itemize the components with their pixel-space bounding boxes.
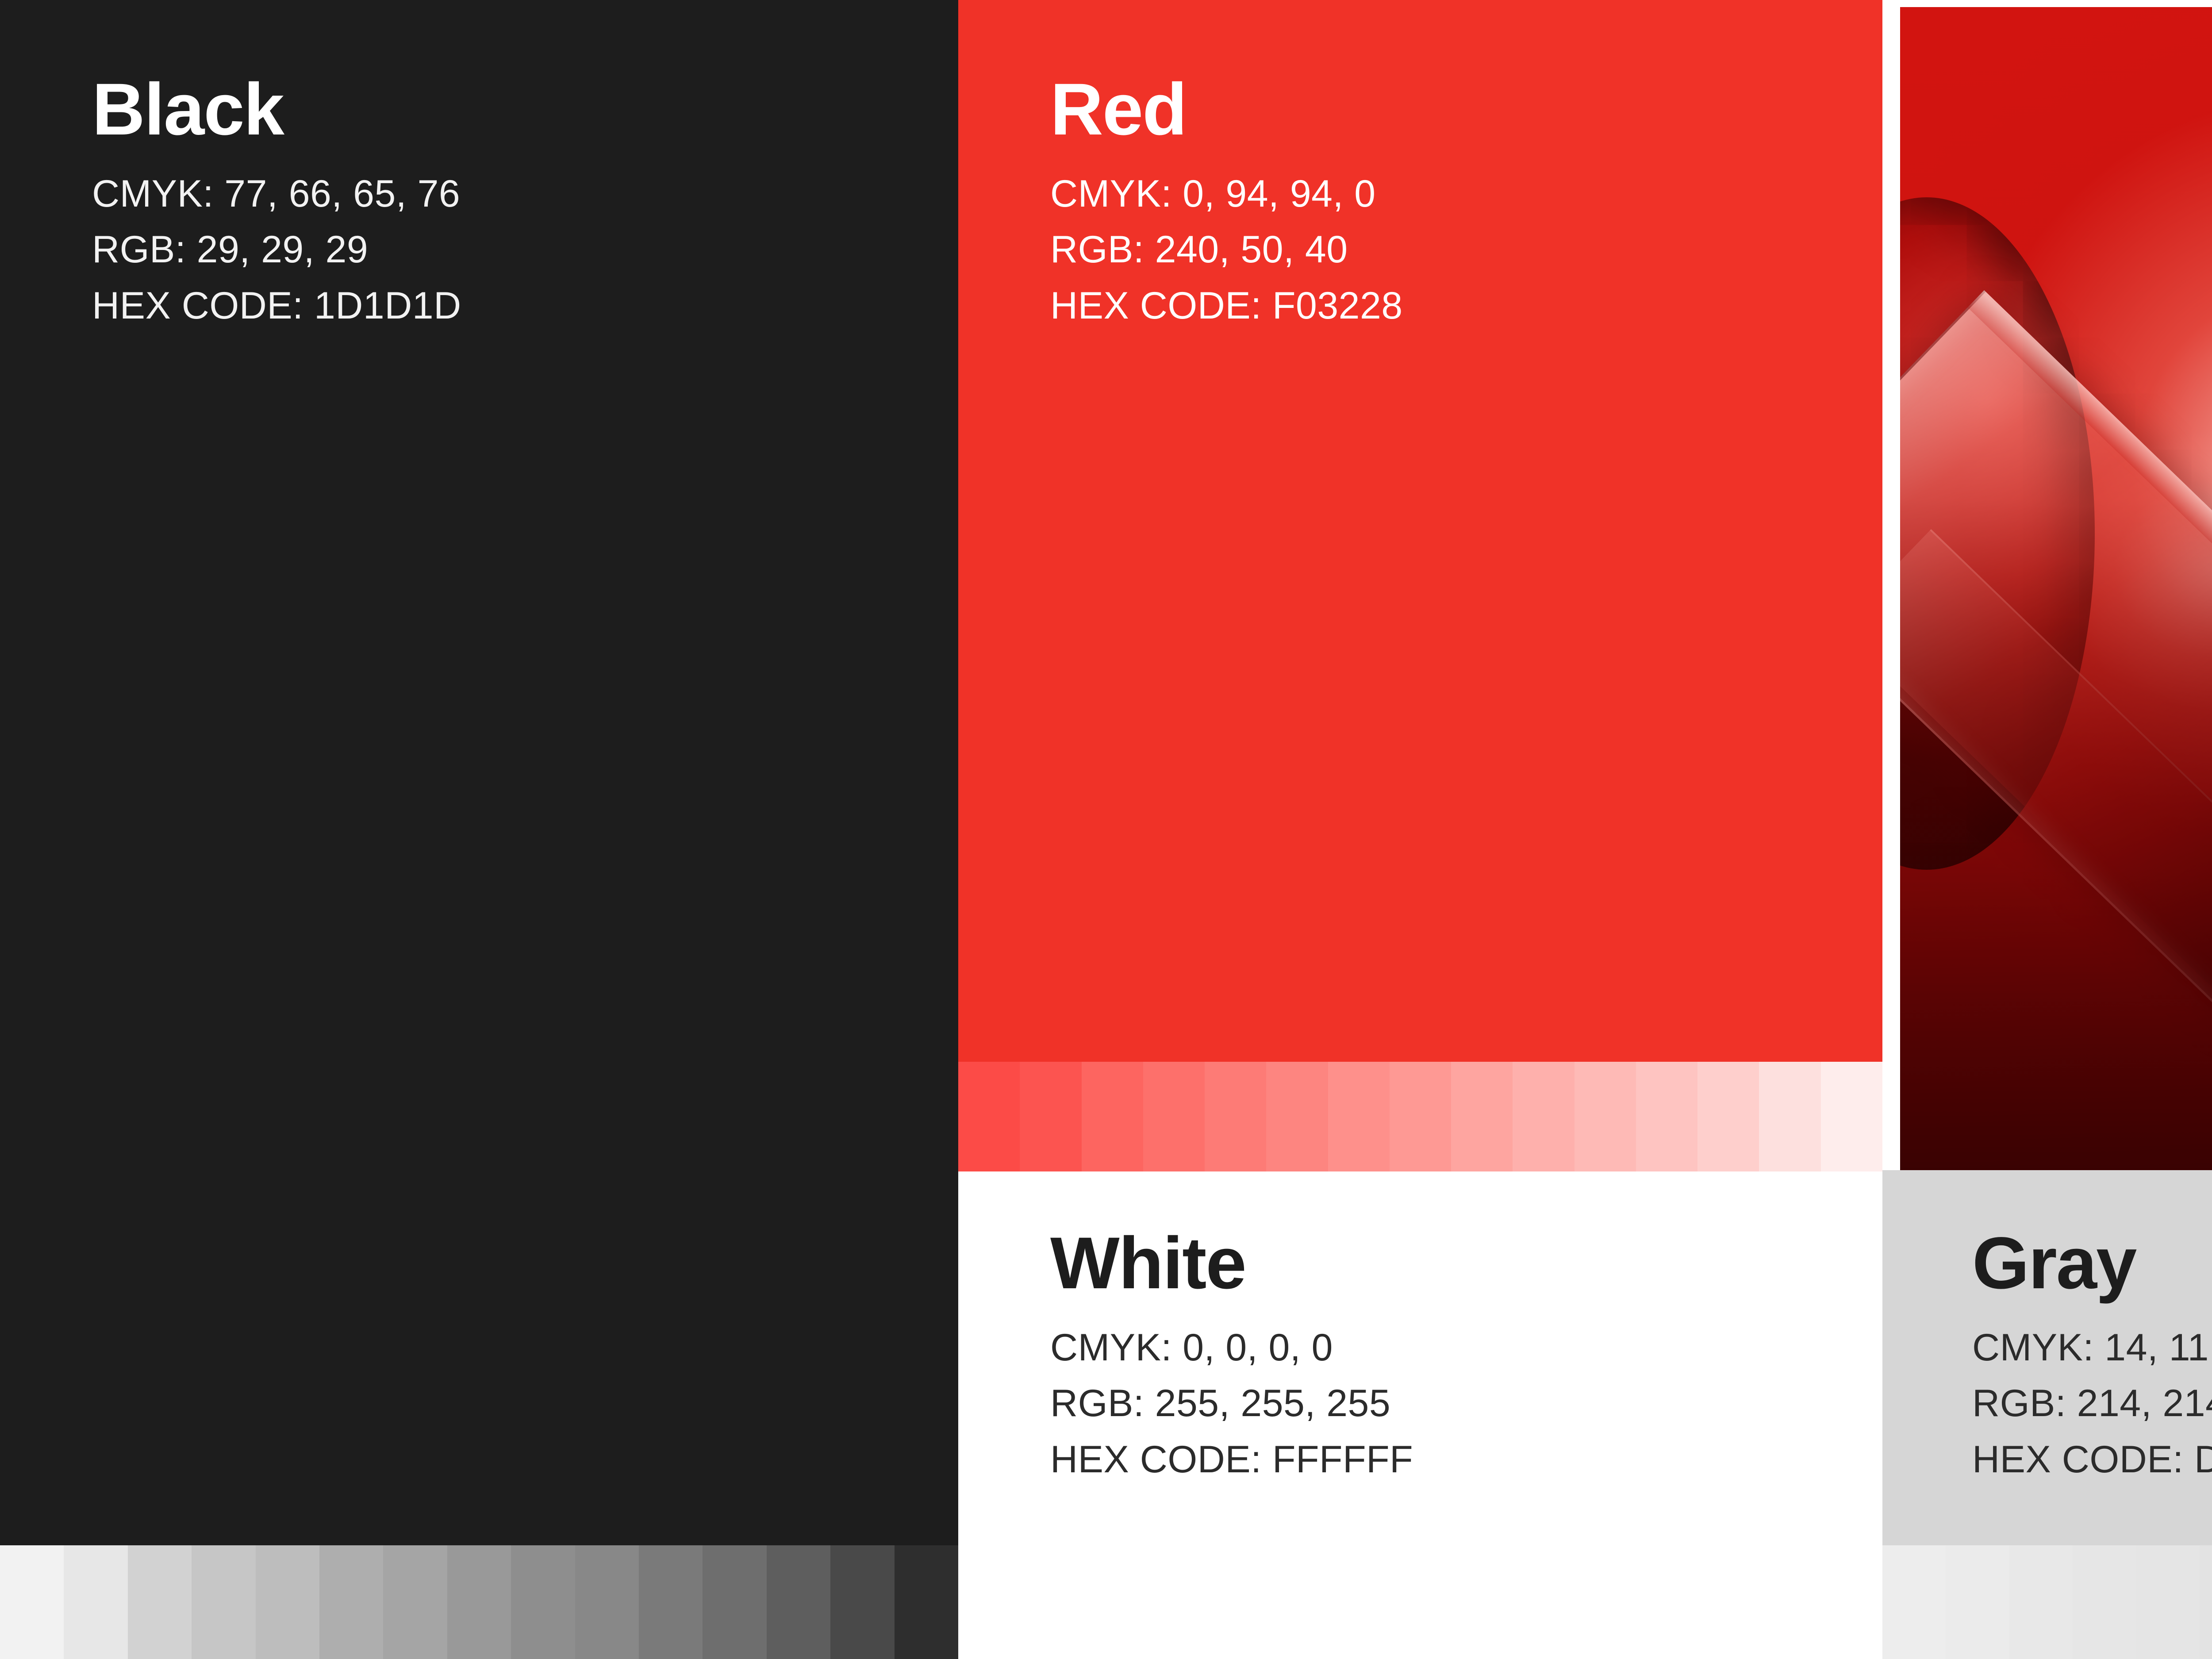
tint-swatch-red-8 xyxy=(1451,1062,1513,1171)
tint-swatch-black-9 xyxy=(575,1545,639,1659)
swatch-title-black: Black xyxy=(92,73,461,146)
swatch-hex-black: HEX CODE: 1D1D1D xyxy=(92,278,461,334)
tint-swatch-black-12 xyxy=(767,1545,830,1659)
swatch-title-gray: Gray xyxy=(1972,1227,2212,1300)
floor-shadow-gradient xyxy=(1900,499,2212,1177)
swatch-panel-black: Black CMYK: 77, 66, 65, 76 RGB: 29, 29, … xyxy=(0,0,958,1545)
tint-swatch-red-1 xyxy=(1020,1062,1081,1171)
swatch-rgb-white: RGB: 255, 255, 255 xyxy=(1050,1375,1413,1431)
swatch-info-white: White CMYK: 0, 0, 0, 0 RGB: 255, 255, 25… xyxy=(1050,1227,1413,1487)
swatch-panel-white: White CMYK: 0, 0, 0, 0 RGB: 255, 255, 25… xyxy=(958,1171,1882,1659)
tint-swatch-black-0 xyxy=(0,1545,64,1659)
tint-swatch-gray-4 xyxy=(2136,1545,2200,1659)
swatch-hex-gray: HEX CODE: D6D6D6 xyxy=(1972,1432,2212,1487)
hero-glass-prism-image xyxy=(1900,7,2212,1177)
swatch-title-white: White xyxy=(1050,1227,1413,1300)
tint-swatch-red-9 xyxy=(1513,1062,1574,1171)
tint-swatch-black-2 xyxy=(128,1545,192,1659)
tint-swatch-black-11 xyxy=(703,1545,766,1659)
tint-swatch-black-1 xyxy=(64,1545,127,1659)
tint-ramp-black xyxy=(0,1545,958,1659)
tint-swatch-black-6 xyxy=(383,1545,447,1659)
tint-swatch-black-4 xyxy=(256,1545,319,1659)
tint-swatch-red-4 xyxy=(1205,1062,1266,1171)
tint-swatch-red-10 xyxy=(1575,1062,1636,1171)
tint-swatch-red-14 xyxy=(1821,1062,1882,1171)
tint-swatch-red-7 xyxy=(1390,1062,1451,1171)
swatch-title-red: Red xyxy=(1050,73,1403,146)
tint-swatch-red-0 xyxy=(958,1062,1020,1171)
tint-swatch-red-5 xyxy=(1266,1062,1328,1171)
tint-swatch-gray-3 xyxy=(2073,1545,2136,1659)
swatch-cmyk-red: CMYK: 0, 94, 94, 0 xyxy=(1050,166,1403,222)
swatch-cmyk-white: CMYK: 0, 0, 0, 0 xyxy=(1050,1320,1413,1375)
color-palette-board: Black CMYK: 77, 66, 65, 76 RGB: 29, 29, … xyxy=(0,0,2212,1659)
swatch-info-red: Red CMYK: 0, 94, 94, 0 RGB: 240, 50, 40 … xyxy=(1050,73,1403,334)
tint-swatch-gray-1 xyxy=(1946,1545,2009,1659)
tint-swatch-red-3 xyxy=(1143,1062,1205,1171)
swatch-cmyk-gray: CMYK: 14, 11, 11, 0 xyxy=(1972,1320,2212,1375)
swatch-rgb-black: RGB: 29, 29, 29 xyxy=(92,222,461,277)
tint-ramp-gray xyxy=(1882,1545,2212,1659)
tint-swatch-red-11 xyxy=(1636,1062,1697,1171)
swatch-info-gray: Gray CMYK: 14, 11, 11, 0 RGB: 214, 214, … xyxy=(1972,1227,2212,1487)
swatch-rgb-red: RGB: 240, 50, 40 xyxy=(1050,222,1403,277)
swatch-rgb-gray: RGB: 214, 214, 214 xyxy=(1972,1375,2212,1431)
swatch-panel-red: Red CMYK: 0, 94, 94, 0 RGB: 240, 50, 40 … xyxy=(958,0,1882,1062)
tint-swatch-black-3 xyxy=(192,1545,255,1659)
tint-swatch-gray-5 xyxy=(2200,1545,2212,1659)
tint-swatch-black-5 xyxy=(319,1545,383,1659)
tint-swatch-black-7 xyxy=(447,1545,511,1659)
tint-swatch-gray-0 xyxy=(1882,1545,1946,1659)
tint-swatch-red-2 xyxy=(1082,1062,1143,1171)
tint-swatch-red-6 xyxy=(1328,1062,1390,1171)
swatch-hex-red: HEX CODE: F03228 xyxy=(1050,278,1403,334)
swatch-cmyk-black: CMYK: 77, 66, 65, 76 xyxy=(92,166,461,222)
tint-swatch-black-13 xyxy=(830,1545,894,1659)
tint-swatch-black-8 xyxy=(511,1545,575,1659)
swatch-info-black: Black CMYK: 77, 66, 65, 76 RGB: 29, 29, … xyxy=(92,73,461,334)
swatch-hex-white: HEX CODE: FFFFFF xyxy=(1050,1432,1413,1487)
tint-ramp-red xyxy=(958,1062,1882,1171)
tint-swatch-gray-2 xyxy=(2009,1545,2073,1659)
tint-swatch-black-10 xyxy=(639,1545,703,1659)
tint-swatch-red-13 xyxy=(1759,1062,1820,1171)
tint-swatch-red-12 xyxy=(1697,1062,1759,1171)
tint-swatch-black-14 xyxy=(895,1545,958,1659)
